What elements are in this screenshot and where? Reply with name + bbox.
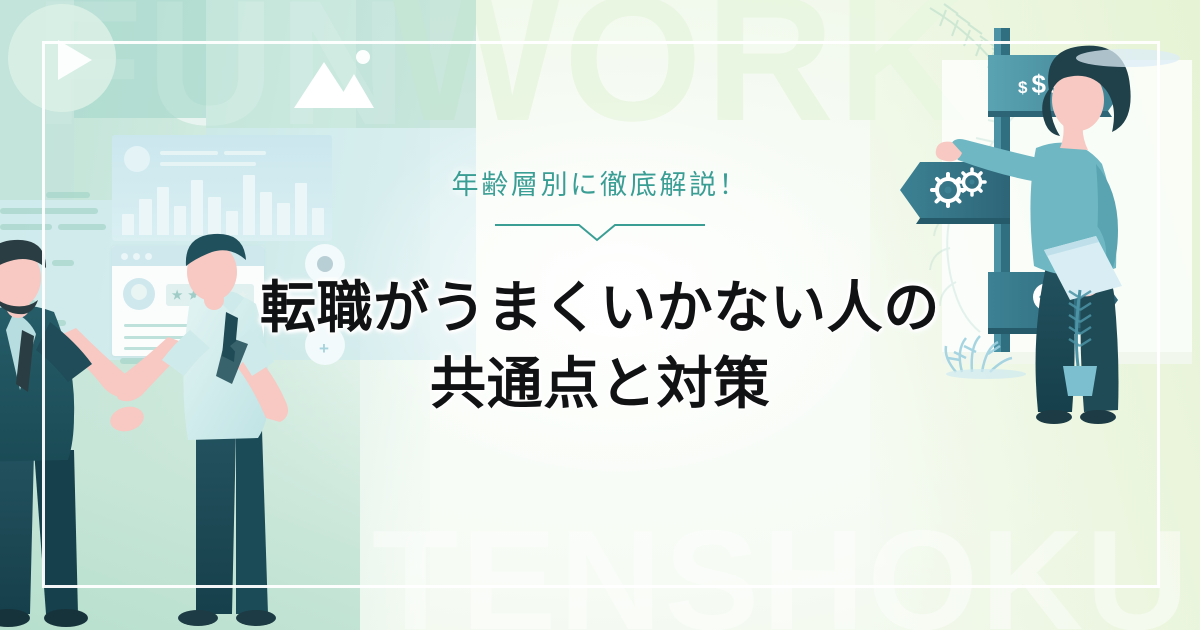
hero-banner: FUN WORK TENSHOKU (0, 0, 1200, 630)
cloud-decor (1076, 49, 1180, 67)
signpost-scene: $$$ (900, 4, 1192, 424)
shoe-back (1080, 410, 1116, 424)
bush-ground-shadow (946, 369, 1026, 379)
shoe-back (236, 610, 276, 626)
young-man-in-shirt-and-tie (112, 234, 288, 626)
bearded-businessman-in-suit (0, 240, 132, 627)
handshake-scene (0, 234, 288, 627)
plant-pot (1063, 366, 1097, 396)
leg-front (0, 450, 34, 614)
leg-back (34, 450, 78, 614)
handshake-hands (108, 403, 147, 435)
center-glow (300, 60, 940, 520)
shoe-front (1036, 410, 1072, 424)
leg-front (196, 430, 236, 614)
shoe-front (178, 610, 218, 626)
leg-back (236, 430, 268, 614)
shoe-back (44, 609, 88, 627)
